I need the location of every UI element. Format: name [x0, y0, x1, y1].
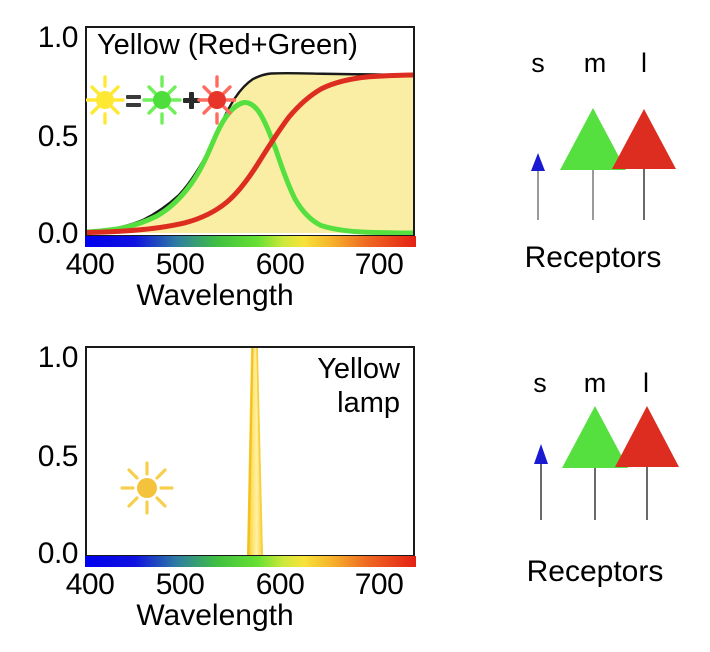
bottom-receptor-bars — [440, 320, 710, 570]
yellow-sun-icon — [87, 77, 123, 123]
equals-icon — [126, 95, 141, 107]
top-chart-ytick-05: 0.5 — [6, 122, 78, 152]
top-receptors-panel: s m l Receptors — [440, 0, 710, 300]
top-chart-xtick-600: 600 — [240, 250, 320, 280]
bottom-chart-panel: 1.0 0.5 0.0 — [0, 320, 440, 652]
color-mix-equation — [86, 74, 236, 126]
bottom-receptors-panel: s m l Receptors — [440, 320, 710, 640]
top-chart-xtick-400: 400 — [50, 250, 130, 280]
receptor-triangle-m — [560, 108, 626, 170]
bottom-chart-xtick-600: 600 — [240, 570, 320, 600]
bottom-chart-ytick-1: 1.0 — [6, 343, 78, 373]
bottom-chart-title-line2: lamp — [200, 386, 400, 420]
top-chart-xtick-700: 700 — [339, 250, 419, 280]
bottom-chart-xaxis-label: Wavelength — [65, 600, 365, 632]
receptor-triangle-s-2 — [534, 444, 548, 464]
receptor-triangle-l-2 — [615, 406, 679, 467]
bottom-chart-xtick-500: 500 — [140, 570, 220, 600]
top-chart-ytick-0: 0.0 — [6, 219, 78, 249]
green-sun-icon — [144, 77, 180, 123]
receptor-triangle-l — [612, 109, 676, 169]
top-chart-xaxis-label: Wavelength — [65, 280, 365, 312]
bottom-chart-ytick-0: 0.0 — [6, 539, 78, 569]
top-receptor-bars — [440, 0, 710, 240]
bottom-chart-xtick-400: 400 — [50, 570, 130, 600]
bottom-chart-ytick-05: 0.5 — [6, 442, 78, 472]
bottom-chart-xtick-700: 700 — [339, 570, 419, 600]
top-chart-panel: 1.0 0.5 0.0 Yellow (Red+Green) — [0, 0, 440, 320]
bottom-receptors-caption: Receptors — [485, 557, 705, 587]
top-chart-ytick-1: 1.0 — [6, 23, 78, 53]
sun-icon — [122, 463, 172, 513]
top-chart-spectrum-bar — [85, 236, 416, 247]
bottom-chart-spectrum-bar — [85, 556, 416, 567]
receptor-triangle-m-2 — [562, 406, 628, 468]
top-receptors-caption: Receptors — [483, 243, 703, 273]
sun-annotation — [120, 461, 174, 515]
red-sun-icon — [199, 77, 235, 123]
top-chart-xtick-500: 500 — [140, 250, 220, 280]
receptor-triangle-s — [531, 153, 545, 171]
bottom-chart-title-line1: Yellow — [200, 352, 400, 386]
top-chart-title: Yellow (Red+Green) — [97, 30, 358, 61]
